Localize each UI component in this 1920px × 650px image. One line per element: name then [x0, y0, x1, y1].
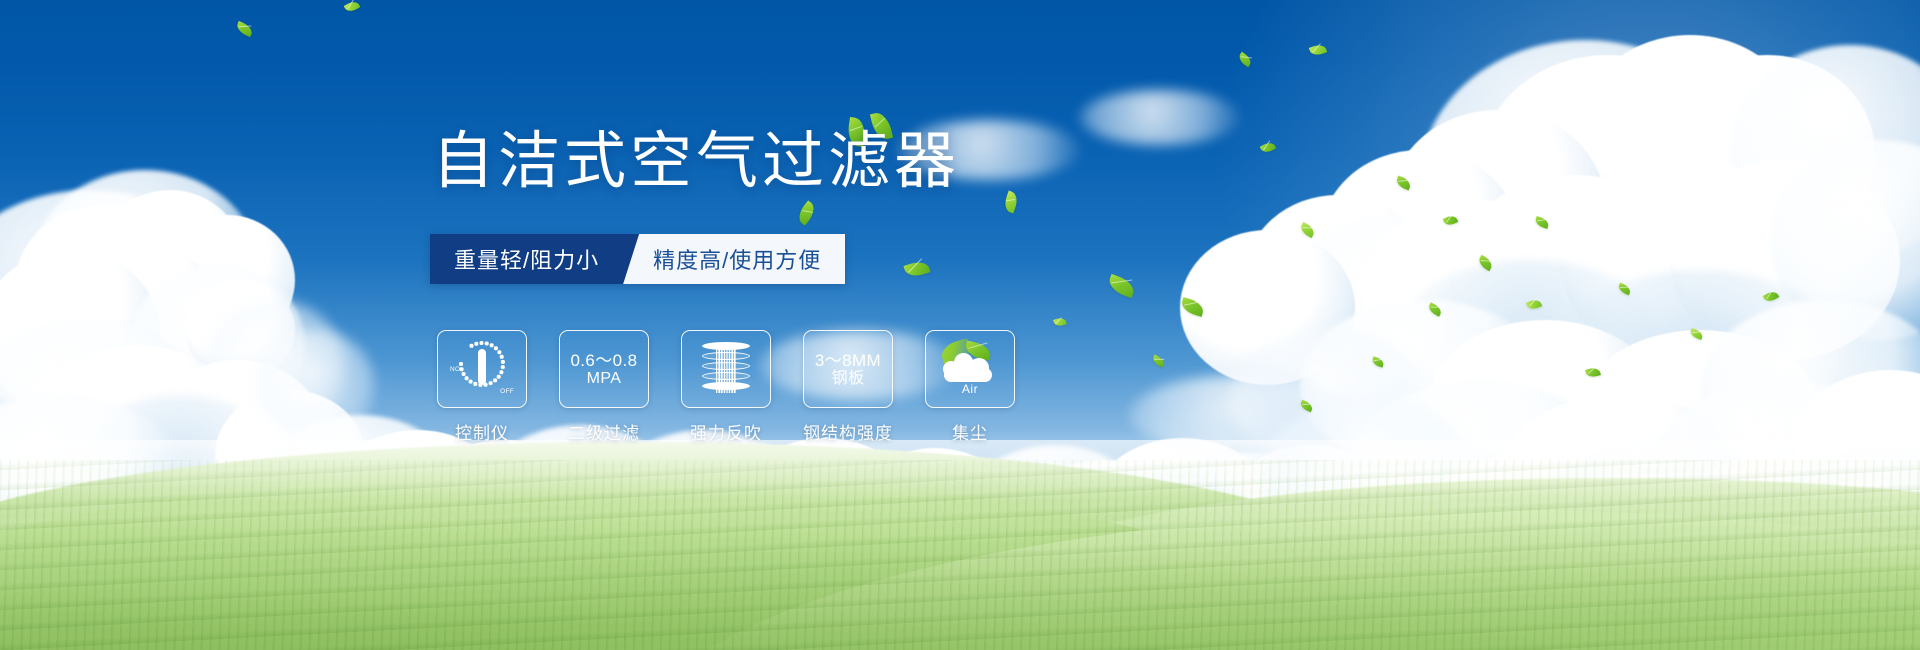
subtitle-tag-group: 重量轻/阻力小 精度高/使用方便 [430, 234, 845, 284]
feature-spec-line-2: 钢板 [832, 370, 865, 388]
feature-item[interactable]: 0.6～0.8MPA二级过滤 [559, 330, 649, 444]
dial-needle [478, 349, 486, 385]
filter-disc [702, 352, 750, 360]
air-label: Air [939, 382, 1001, 396]
filter-disc [702, 362, 750, 370]
product-hero-banner: 自洁式空气过滤器 重量轻/阻力小 精度高/使用方便 NOOFF控制仪0.6～0.… [0, 0, 1920, 650]
cloud-base [944, 368, 992, 382]
feature-icon-box[interactable] [681, 330, 771, 408]
filter-disc [702, 372, 750, 380]
filter-disc [702, 342, 750, 350]
dial-label-no: NO [450, 366, 460, 373]
feature-caption: 集尘 [925, 419, 1015, 444]
feature-spec-line-2: MPA [587, 370, 622, 388]
feature-icon-box[interactable]: NOOFF [437, 330, 527, 408]
subtitle-tag-primary: 重量轻/阻力小 [430, 234, 625, 284]
feature-caption: 二级过滤 [559, 419, 649, 444]
feature-icon-box[interactable]: 0.6～0.8MPA [559, 330, 649, 408]
feature-caption: 控制仪 [437, 419, 527, 444]
feature-item[interactable]: 强力反吹 [681, 330, 771, 444]
feature-spec-line-1: 0.6～0.8 [570, 351, 637, 370]
filter-cartridge-icon [699, 341, 753, 397]
feature-icon-box[interactable]: 3～8MM钢板 [803, 330, 893, 408]
feature-icon-box[interactable]: Air [925, 330, 1015, 408]
feature-item[interactable]: NOOFF控制仪 [437, 330, 527, 444]
dial-label-off: OFF [500, 388, 514, 395]
subtitle-tag-secondary: 精度高/使用方便 [623, 234, 845, 284]
air-cloud-icon: Air [939, 342, 1001, 396]
page-title: 自洁式空气过滤器 [432, 131, 960, 193]
feature-item[interactable]: Air集尘 [925, 330, 1015, 444]
feature-spec-line-1: 3～8MM [815, 351, 881, 370]
banner-content: 自洁式空气过滤器 重量轻/阻力小 精度高/使用方便 NOOFF控制仪0.6～0.… [0, 0, 1920, 650]
feature-caption: 钢结构强度 [803, 419, 893, 444]
control-dial-icon: NOOFF [451, 341, 513, 397]
feature-item[interactable]: 3～8MM钢板钢结构强度 [803, 330, 893, 444]
feature-icon-row: NOOFF控制仪0.6～0.8MPA二级过滤强力反吹3～8MM钢板钢结构强度Ai… [437, 330, 1015, 444]
feature-caption: 强力反吹 [681, 419, 771, 444]
filter-disc [702, 382, 750, 390]
